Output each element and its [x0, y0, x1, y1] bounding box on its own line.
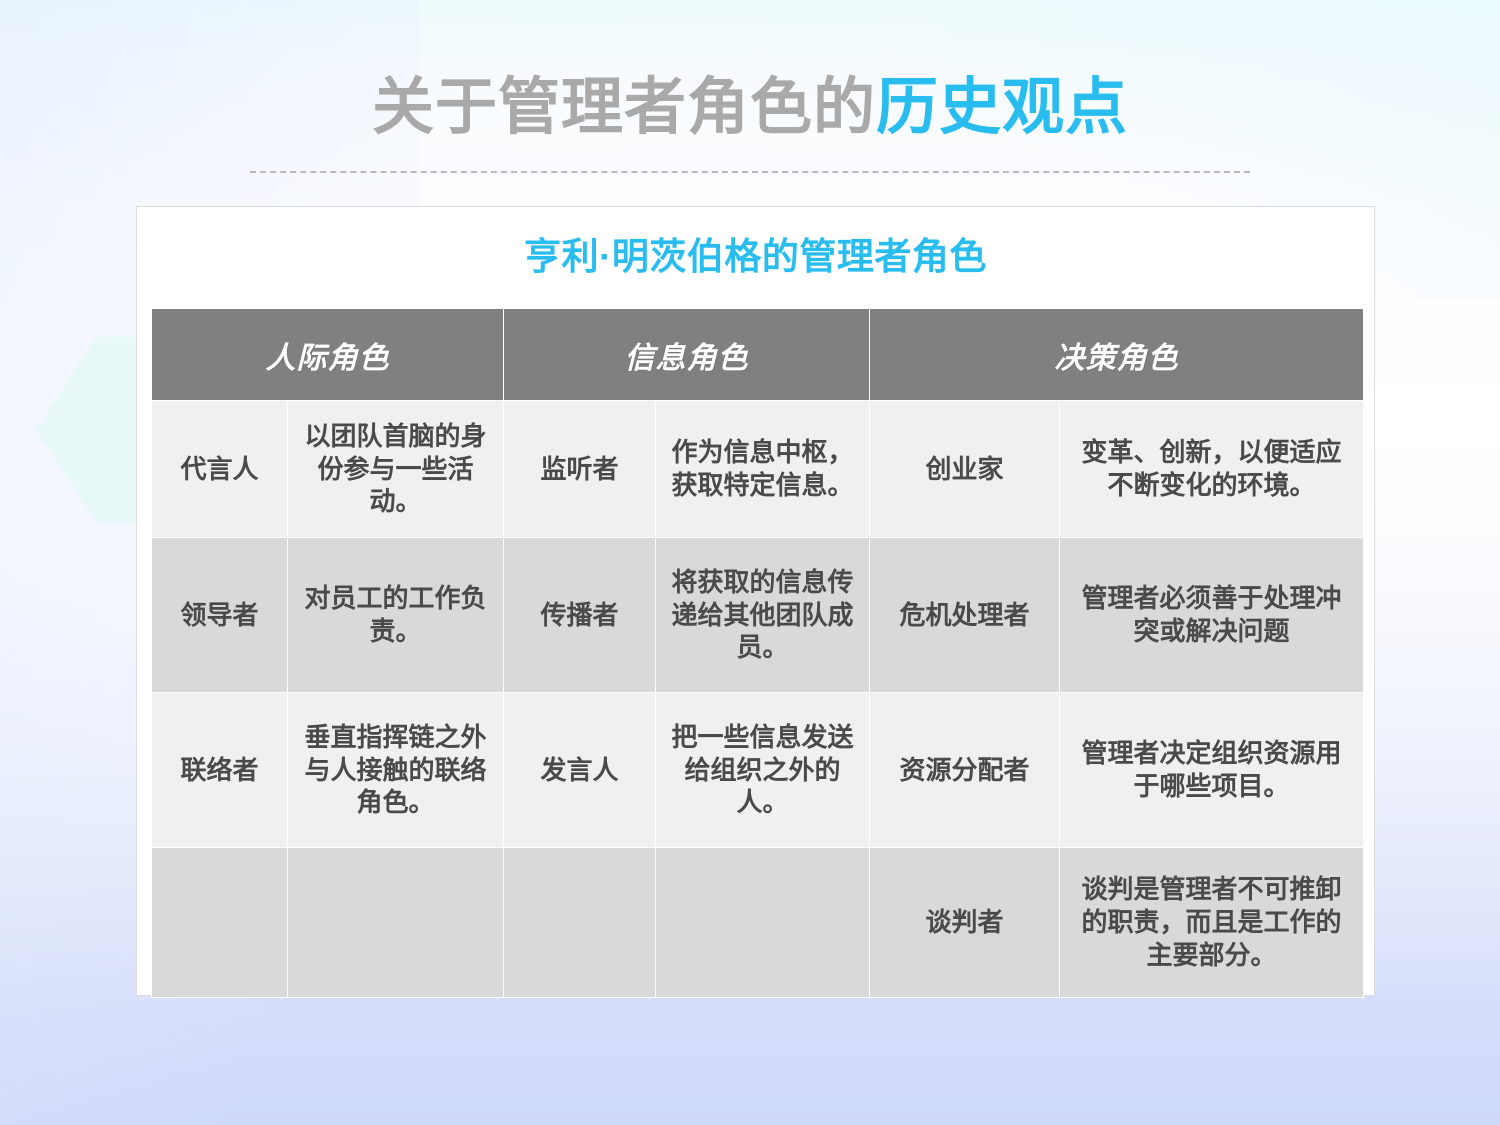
card-title: 亨利·明茨伯格的管理者角色	[137, 235, 1374, 279]
table-row: 谈判者 谈判是管理者不可推卸的职责，而且是工作的主要部分。	[152, 848, 1364, 998]
title-divider-dashed	[250, 171, 1250, 173]
cell-role: 谈判者	[870, 848, 1060, 998]
cell-description: 把一些信息发送给组织之外的人。	[656, 693, 870, 848]
cell-role: 资源分配者	[870, 693, 1060, 848]
cell-empty	[152, 848, 288, 998]
slide-title-container: 关于管理者角色的历史观点	[0, 72, 1500, 143]
cell-description: 以团队首脑的身份参与一些活动。	[288, 401, 504, 538]
page-title-prefix: 关于管理者角色的	[372, 73, 876, 142]
content-card: 亨利·明茨伯格的管理者角色 人际角色 信息角色 决策角色 代言人 以团队首脑的身…	[136, 206, 1375, 996]
cell-description: 对员工的工作负责。	[288, 538, 504, 693]
table-header-informational: 信息角色	[504, 309, 870, 401]
cell-role: 传播者	[504, 538, 656, 693]
cell-empty	[288, 848, 504, 998]
cell-role: 创业家	[870, 401, 1060, 538]
cell-role: 发言人	[504, 693, 656, 848]
manager-roles-table: 人际角色 信息角色 决策角色 代言人 以团队首脑的身份参与一些活动。 监听者 作…	[151, 308, 1364, 998]
table-row: 领导者 对员工的工作负责。 传播者 将获取的信息传递给其他团队成员。 危机处理者…	[152, 538, 1364, 693]
cell-description: 将获取的信息传递给其他团队成员。	[656, 538, 870, 693]
cell-description: 垂直指挥链之外与人接触的联络角色。	[288, 693, 504, 848]
cell-description: 变革、创新，以便适应不断变化的环境。	[1060, 401, 1364, 538]
cell-role: 联络者	[152, 693, 288, 848]
cell-role: 代言人	[152, 401, 288, 538]
table-row: 联络者 垂直指挥链之外与人接触的联络角色。 发言人 把一些信息发送给组织之外的人…	[152, 693, 1364, 848]
cell-role: 监听者	[504, 401, 656, 538]
cell-empty	[504, 848, 656, 998]
table-header-interpersonal: 人际角色	[152, 309, 504, 401]
page-title: 关于管理者角色的历史观点	[0, 72, 1500, 143]
table-header-row: 人际角色 信息角色 决策角色	[152, 309, 1364, 401]
page-title-highlight: 历史观点	[876, 73, 1128, 142]
cell-description: 谈判是管理者不可推卸的职责，而且是工作的主要部分。	[1060, 848, 1364, 998]
cell-description: 作为信息中枢，获取特定信息。	[656, 401, 870, 538]
cell-role: 领导者	[152, 538, 288, 693]
cell-description: 管理者决定组织资源用于哪些项目。	[1060, 693, 1364, 848]
cell-role: 危机处理者	[870, 538, 1060, 693]
cell-empty	[656, 848, 870, 998]
table-header-decisional: 决策角色	[870, 309, 1364, 401]
cell-description: 管理者必须善于处理冲突或解决问题	[1060, 538, 1364, 693]
table-row: 代言人 以团队首脑的身份参与一些活动。 监听者 作为信息中枢，获取特定信息。 创…	[152, 401, 1364, 538]
